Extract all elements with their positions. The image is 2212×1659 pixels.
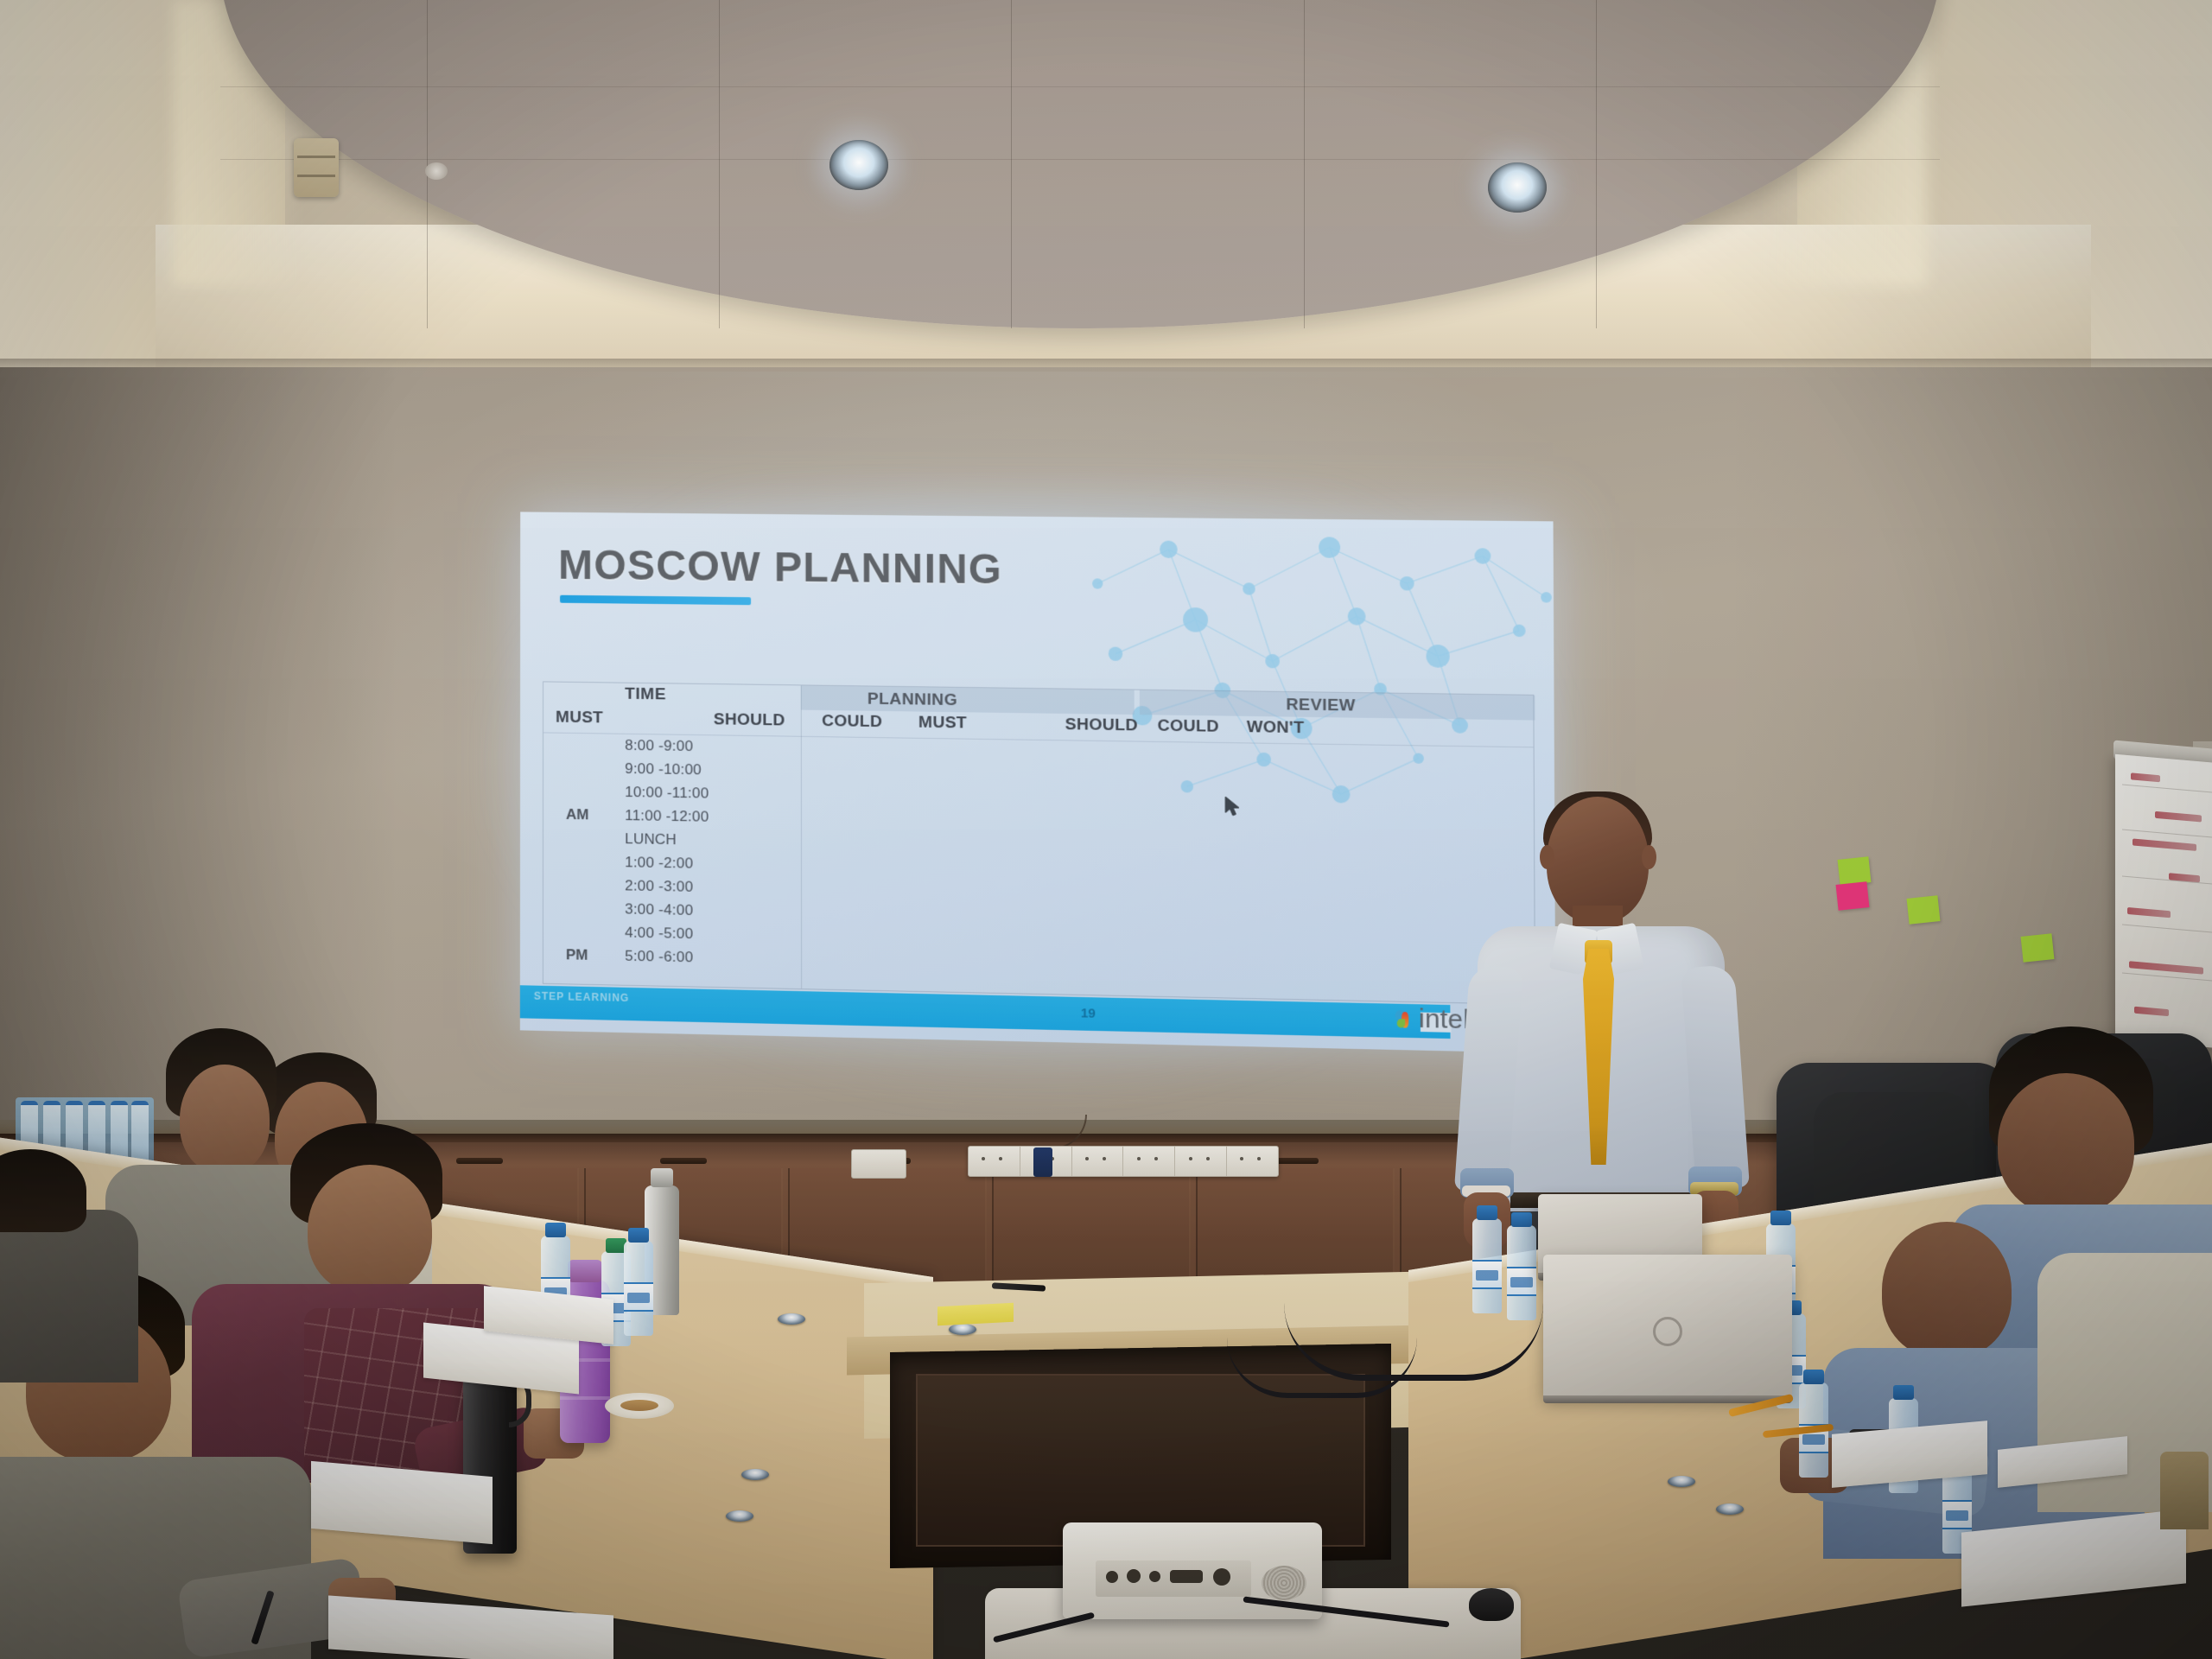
ceiling-vent xyxy=(294,138,339,197)
row-time: 11:00 -12:00 xyxy=(625,807,709,826)
power-socket[interactable] xyxy=(1123,1147,1175,1176)
projector-vent xyxy=(1262,1566,1306,1600)
presenter-head xyxy=(1547,797,1649,923)
slide-page-number: 19 xyxy=(1081,1006,1096,1021)
column-header-planning-should: SHOULD xyxy=(714,710,785,730)
laptop-silver-front[interactable] xyxy=(1543,1255,1792,1396)
time-column: 8:00 -9:00 9:00 -10:00 10:00 -11:00 AM11… xyxy=(543,732,801,971)
column-header-time: TIME xyxy=(625,685,666,705)
row-time: 5:00 -6:00 xyxy=(625,948,693,967)
moscow-planning-table: PLANNING REVIEW TIME MUST SHOULD COULD M… xyxy=(543,681,1535,1005)
column-header-planning-could: COULD xyxy=(822,712,882,732)
projector-port-panel xyxy=(1096,1560,1251,1597)
step-learning-logo: STEP LEARNING xyxy=(534,991,629,1004)
ceiling-downlight-2 xyxy=(1488,162,1547,213)
table-grommet xyxy=(726,1510,753,1522)
table-grommet xyxy=(1716,1503,1744,1515)
plastic-water-bottle xyxy=(624,1241,653,1336)
flipchart-with-handwritten-notes xyxy=(2115,754,2212,1048)
table-center-well-inner xyxy=(916,1374,1365,1547)
row-time: LUNCH xyxy=(625,830,677,849)
sticky-note-wall-2 xyxy=(1836,881,1870,911)
row-ampm: AM xyxy=(566,806,589,823)
ceiling-downlight-1 xyxy=(829,140,888,190)
table-grommet xyxy=(778,1313,805,1325)
presenter-ear-right xyxy=(1642,845,1656,869)
presenter-ear-left xyxy=(1540,845,1554,869)
slide-title: MOSCOW PLANNING xyxy=(558,542,1002,594)
wall-power-socket-strip[interactable] xyxy=(968,1146,1279,1177)
intellipaat-mark-icon xyxy=(1395,1007,1415,1031)
row-time: 3:00 -4:00 xyxy=(625,900,693,919)
power-socket[interactable] xyxy=(1072,1147,1124,1176)
column-header-review-wont: WON'T xyxy=(1247,718,1305,738)
sticky-note-wall-4 xyxy=(2021,933,2055,963)
column-header-review-could: COULD xyxy=(1158,716,1219,736)
table-grommet xyxy=(949,1324,976,1335)
credenza-handle[interactable] xyxy=(660,1158,707,1164)
power-socket[interactable] xyxy=(1175,1147,1227,1176)
sticky-note-on-table xyxy=(938,1303,1014,1326)
column-header-review-should: SHOULD xyxy=(1065,715,1138,736)
hp-logo-icon xyxy=(1653,1317,1682,1346)
table-grommet xyxy=(741,1469,769,1480)
power-switch[interactable] xyxy=(1033,1147,1052,1177)
row-time: 10:00 -11:00 xyxy=(625,784,709,803)
group-label-planning: PLANNING xyxy=(868,690,957,710)
power-socket[interactable] xyxy=(1227,1147,1278,1176)
row-time: 8:00 -9:00 xyxy=(625,737,693,755)
row-time: 2:00 -3:00 xyxy=(625,877,693,896)
sticky-note-wall-3 xyxy=(1907,895,1941,925)
group-label-review: REVIEW xyxy=(1286,696,1355,716)
column-header-planning-must: MUST xyxy=(556,709,603,728)
power-socket[interactable] xyxy=(969,1147,1020,1176)
projection-screen: MOSCOW PLANNING PLANNING REVIEW TIME MUS… xyxy=(520,512,1556,1053)
projector-stand-knob xyxy=(1469,1588,1514,1621)
row-time: 9:00 -10:00 xyxy=(625,760,702,779)
slide-title-underline xyxy=(560,595,751,606)
participant-left-5 xyxy=(0,1149,121,1374)
wall-switch-plate[interactable] xyxy=(851,1149,906,1179)
row-time: 1:00 -2:00 xyxy=(625,854,693,873)
column-header-review-must: MUST xyxy=(918,714,967,734)
credenza-handle[interactable] xyxy=(1272,1158,1319,1164)
group-band-planning xyxy=(801,685,1135,715)
smoke-detector-icon xyxy=(425,162,448,180)
table-row: PM5:00 -6:00 xyxy=(543,943,801,971)
row-ampm: PM xyxy=(566,946,588,964)
table-grommet xyxy=(1668,1476,1695,1487)
row-time: 4:00 -5:00 xyxy=(625,924,693,943)
meeting-room-photo: MOSCOW PLANNING PLANNING REVIEW TIME MUS… xyxy=(0,0,2212,1659)
table-microphone-base xyxy=(2160,1452,2209,1529)
snack-plate xyxy=(605,1393,674,1419)
plastic-water-bottle xyxy=(1472,1218,1502,1313)
